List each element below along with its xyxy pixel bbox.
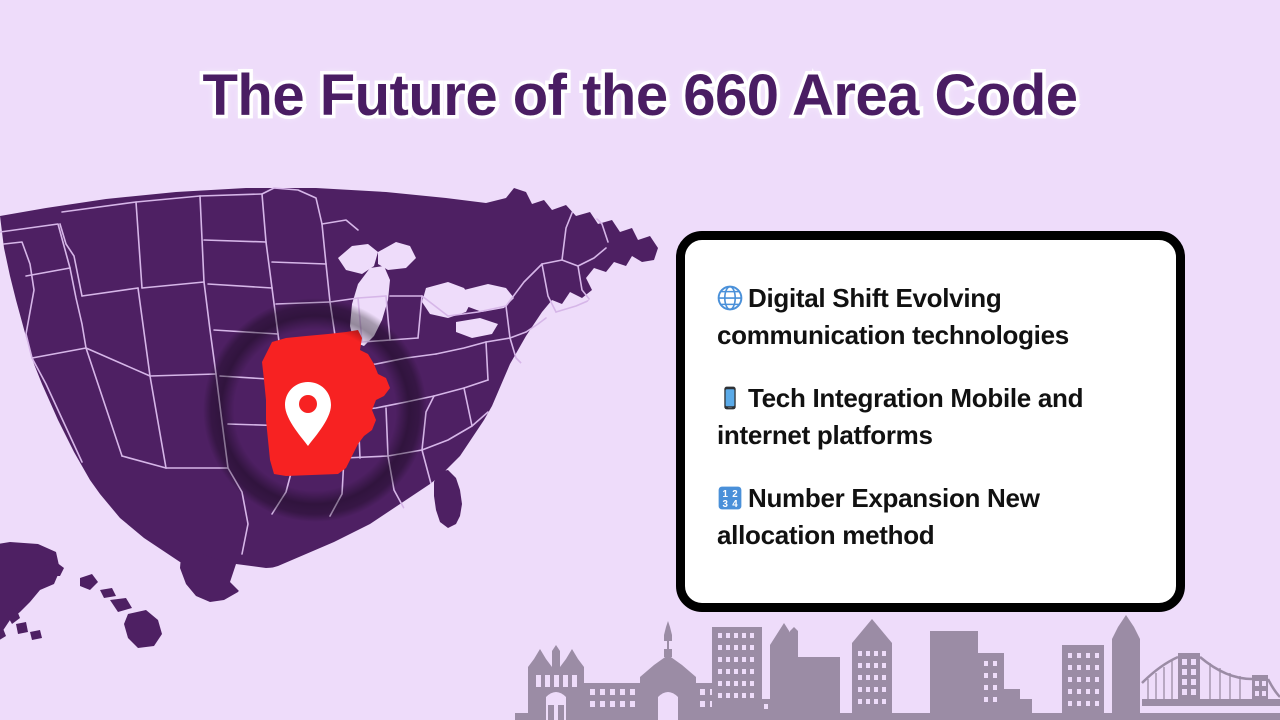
suspension-bridge-icon xyxy=(1142,653,1280,706)
city-skyline xyxy=(0,605,1280,720)
svg-text:4: 4 xyxy=(732,499,738,510)
skyline-buildings xyxy=(515,615,1280,720)
globe-with-meridians-icon xyxy=(717,285,743,311)
input-numbers-icon: 1 2 3 4 xyxy=(717,485,743,511)
info-card: Digital Shift Evolving communication tec… xyxy=(676,231,1185,612)
mobile-phone-icon xyxy=(717,385,743,411)
list-item: 1 2 3 4 Number Expansion New allocation … xyxy=(717,480,1146,554)
state-florida xyxy=(434,470,462,528)
list-item-label: Number Expansion New allocation method xyxy=(717,483,1040,550)
list-item: Tech Integration Mobile and internet pla… xyxy=(717,380,1146,454)
map-landmass xyxy=(0,188,658,656)
chesapeake-bay xyxy=(520,362,534,384)
list-item: Digital Shift Evolving communication tec… xyxy=(717,280,1146,354)
svg-text:3: 3 xyxy=(723,499,729,510)
list-item-label: Digital Shift Evolving communication tec… xyxy=(717,283,1069,350)
infographic-canvas: The Future of the 660 Area Code Digital … xyxy=(0,0,1280,720)
us-map xyxy=(0,172,686,677)
page-title: The Future of the 660 Area Code xyxy=(0,62,1280,129)
list-item-label: Tech Integration Mobile and internet pla… xyxy=(717,383,1083,450)
